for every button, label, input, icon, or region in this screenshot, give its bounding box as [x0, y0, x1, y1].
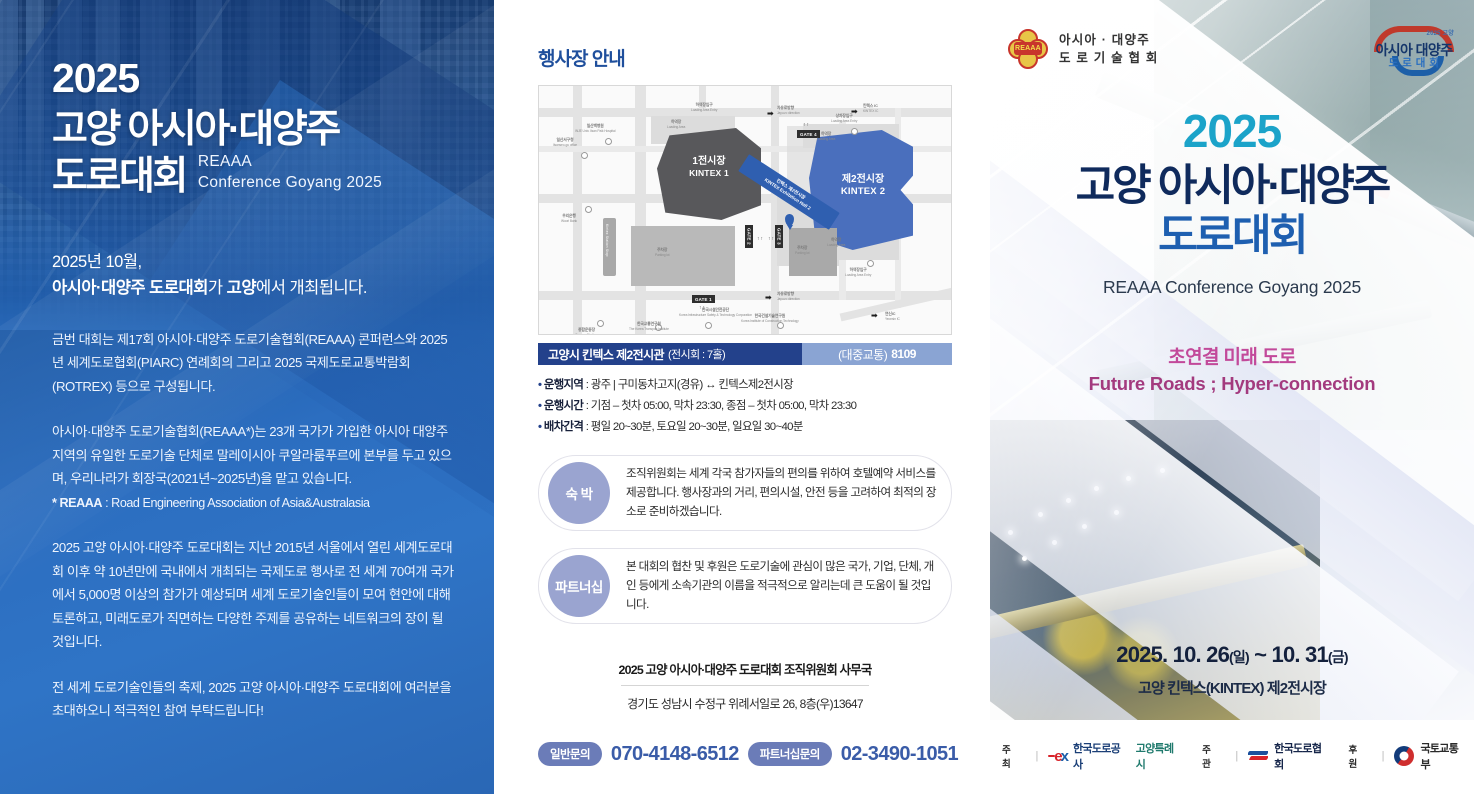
transport-bus-label: (대중교통) [838, 346, 887, 363]
map-gate4-arrows: ↑↑ [803, 122, 810, 128]
map-direction-2: 킨텍스 IC KINTEX IC [863, 104, 878, 113]
left-content: 2025 고양 아시아·대양주 도로대회 REAAA Conference Go… [0, 0, 494, 723]
transport-detail-value: 평일 20~30분, 토요일 20~30분, 일요일 30~40분 [591, 421, 803, 433]
contact-row: 일반문의 070-4148-6512 파트너십문의 02-3490-1051 [538, 742, 952, 766]
map-poi-9-en: Parking lot [655, 253, 669, 257]
map-poi-2-en: Woori Bank [561, 219, 577, 223]
left-paragraph-4: 전 세계 도로기술인들의 축제, 2025 고양 아시아·대양주 도로대회에 여… [52, 676, 454, 723]
map-poi-0: 일산백병원 INJE Univ. Ilsan Paik Hospital [575, 124, 615, 133]
map-poi-8-en: Loading Area Entry [845, 273, 871, 277]
cover-date-sep: ~ [1249, 642, 1272, 667]
map-poi-5: 상차장입구 Loading Area Entry [831, 114, 857, 123]
transport-venue-hall: (전시회 : 7홀) [668, 346, 725, 362]
partnership-text: 본 대회의 협찬 및 후원은 도로기술에 관심이 많은 국가, 기업, 단체, … [626, 558, 937, 614]
road-association-icon [1248, 750, 1268, 762]
reaaa-mark-text: REAAA [1014, 42, 1042, 55]
emblem-line2: 도 로 대 회 [1368, 55, 1460, 70]
transport-detail-value: 기점 – 첫차 05:00, 막차 23:30, 종점 – 첫차 05:00, … [591, 400, 857, 412]
partnership-badge: 파트너십 [548, 555, 610, 617]
map-direction-arrow-4: ➡ [871, 312, 878, 320]
map-poi-5-en: Loading Area Entry [831, 119, 857, 123]
sponsor-supporter-label: 후 원 [1349, 742, 1372, 770]
transport-detail-item: 배차간격 : 평일 20~30분, 토요일 20~30분, 일요일 30~40분 [538, 417, 952, 438]
map-poi-6-en: Loading Area [817, 137, 835, 141]
transport-detail-key: 운행지역 [544, 379, 583, 391]
venue-map[interactable]: Kintex Station Stop 1전시장 KINTEX 1 제2전시장 … [538, 85, 952, 335]
map-direction-2-en: KINTEX IC [863, 109, 878, 113]
reaaa-logo-line2: 도 로 기 술 협 회 [1059, 49, 1159, 67]
cover-date-start-dow: (일) [1229, 649, 1249, 665]
cover-venue: 고양 킨텍스(KINTEX) 제2전시장 [990, 677, 1474, 698]
map-poi-10: 주차장 Parking lot [795, 246, 809, 255]
reaaa-flower-icon: REAAA [1008, 29, 1048, 69]
map-direction-arrow-3: ➡ [765, 294, 772, 302]
map-poi-2: 우리은행 Woori Bank [561, 214, 577, 223]
left-lead-highlight-a: 아시아·대양주 도로대회 [52, 279, 208, 297]
map-direction-3: 자유로방향 Jayu-ro direction [777, 292, 800, 301]
transport-detail-key: 배차간격 [544, 421, 583, 433]
map-poi-4: 하역장 Loading Area [667, 120, 685, 129]
venue-heading: 행사장 안내 [538, 44, 964, 71]
left-title-en-line1: REAAA [198, 152, 382, 173]
map-label-hall2-ko: 제2전시장 [811, 174, 915, 186]
map-poi-14-en: Goyang Stadium [575, 333, 598, 335]
sponsor-organizer-label: 주 관 [1202, 742, 1225, 770]
reaaa-association-logo: REAAA 아시아 · 대양주 도 로 기 술 협 회 [1008, 29, 1159, 69]
map-poi-4-en: Loading Area [667, 125, 685, 129]
cover-slogan-ko: 초연결 미래 도로 [990, 342, 1474, 369]
accommodation-badge: 숙 박 [548, 462, 610, 524]
map-gate-3: GATE 3 [775, 225, 783, 248]
map-poi-7-en: Loading Area [827, 243, 845, 247]
left-paragraph-3: 2025 고양 아시아·대양주 도로대회는 지난 2015년 서울에서 열린 세… [52, 536, 454, 654]
accommodation-text: 조직위원회는 세계 각국 참가자들의 편의를 위하여 호텔예약 서비스를 제공합… [626, 465, 937, 521]
transport-detail-value: 광주 | 구미동차고지(경유) ↔ 킨텍스제2전시장 [591, 379, 793, 391]
left-title-line2: 도로대회 [52, 155, 186, 199]
ex-highway-icon: ex [1048, 749, 1067, 764]
transport-details-list: 운행지역 : 광주 | 구미동차고지(경유) ↔ 킨텍스제2전시장 운행시간 :… [538, 375, 952, 438]
info-card-partnership: 파트너십 본 대회의 협찬 및 후원은 도로기술에 관심이 많은 국가, 기업,… [538, 548, 952, 624]
cover-hero: 2025 고양 아시아·대양주 도로대회 REAAA Conference Go… [990, 108, 1474, 395]
left-lead-line2: 아시아·대양주 도로대회가 고양에서 개최됩니다. [52, 275, 454, 302]
left-note: * REAAA : Road Engineering Association o… [52, 496, 370, 510]
left-title-row: 도로대회 REAAA Conference Goyang 2025 [52, 152, 454, 199]
sponsor-divider: | [1035, 750, 1038, 762]
sponsor-host-name-1: 한국도로공사 [1073, 740, 1124, 772]
left-note-label: * REAAA [52, 496, 102, 510]
organizer-divider [621, 685, 869, 686]
sponsor-group-supporter: 후 원 | 국토교통부 [1349, 740, 1462, 772]
info-card-accommodation: 숙 박 조직위원회는 세계 각국 참가자들의 편의를 위하여 호텔예약 서비스를… [538, 455, 952, 531]
map-poi-7: 하역장 Loading Area [827, 238, 845, 247]
left-title-english: REAAA Conference Goyang 2025 [198, 152, 382, 199]
map-poi-6: 하역장 Loading Area [817, 132, 835, 141]
reaaa-logo-text: 아시아 · 대양주 도 로 기 술 협 회 [1059, 31, 1159, 67]
right-content: REAAA 아시아 · 대양주 도 로 기 술 협 회 2025 고양 아시아 … [990, 0, 1474, 794]
map-label-hall2-en: KINTEX 2 [811, 186, 915, 197]
transport-bus-route: 8109 [891, 347, 916, 361]
sponsor-supporter-name: 국토교통부 [1420, 740, 1462, 772]
sponsor-organizer-name: 한국도로협회 [1274, 740, 1324, 772]
left-body-copy: 금번 대회는 제17회 아시아·대양주 도로기술협회(REAAA) 콘퍼런스와 … [52, 328, 454, 723]
contact-partnership-chip: 파트너십문의 [748, 742, 832, 766]
map-poi-13: 한국건설기술연구원 Korea Institute of Constructio… [741, 314, 799, 323]
cover-date-start: 2025. 10. 26 [1116, 642, 1229, 667]
left-lead-highlight-b: 고양 [227, 279, 256, 297]
map-poi-14: 종합운동장 Goyang Stadium [575, 328, 598, 335]
map-gate-2: GATE 2 [745, 225, 753, 248]
map-poi-3: 하역장입구 Loading Area Entry [691, 103, 717, 112]
transport-venue-name: 고양시 킨텍스 제2전시관 [548, 346, 664, 363]
map-poi-1-en: Ilsanseo-gu office [553, 143, 577, 147]
map-direction-4: 연신IC Yeonsin IC [885, 312, 900, 321]
map-gate2-arrows: ↑↑ [757, 236, 764, 242]
left-title-line1: 고양 아시아·대양주 [52, 108, 454, 152]
panel-middle-venue: 행사장 안내 [510, 0, 990, 794]
map-direction-3-en: Jayu-ro direction [777, 297, 800, 301]
map-parking-west [631, 226, 735, 286]
map-label-hall2: 제2전시장 KINTEX 2 [811, 174, 915, 197]
left-paragraph-1: 금번 대회는 제17회 아시아·대양주 도로기술협회(REAAA) 콘퍼런스와 … [52, 328, 454, 399]
left-lead-conn: 가 [208, 279, 227, 297]
cover-title-line2: 도로대회 [990, 213, 1474, 259]
map-poi-dot [597, 320, 604, 327]
map-direction-4-en: Yeonsin IC [885, 317, 900, 321]
left-lead: 2025년 10월, 아시아·대양주 도로대회가 고양에서 개최됩니다. [52, 249, 454, 302]
map-poi-9: 주차장 Parking lot [655, 248, 669, 257]
organizer-block: 2025 고양 아시아·대양주 도로대회 조직위원회 사무국 경기도 성남시 수… [538, 660, 952, 712]
left-title-en-line2: Conference Goyang 2025 [198, 173, 382, 194]
brochure-trifold: 2025 고양 아시아·대양주 도로대회 REAAA Conference Go… [0, 0, 1474, 794]
cover-date-end-dow: (금) [1328, 649, 1348, 665]
map-gate3-arrows: ↑↑ [768, 236, 775, 242]
transport-detail-key: 운행시간 [544, 400, 583, 412]
map-poi-3-en: Loading Area Entry [691, 108, 717, 112]
map-poi-dot [777, 322, 784, 329]
map-poi-13-en: Korea Institute of Construction Technolo… [741, 319, 799, 323]
sponsor-host-label: 주 최 [1002, 742, 1025, 770]
sponsor-divider: | [1382, 750, 1385, 762]
reaaa-logo-line1: 아시아 · 대양주 [1059, 31, 1159, 49]
panel-gutter-left [494, 0, 510, 794]
left-note-text: : Road Engineering Association of Asia&A… [102, 496, 370, 510]
cover-year: 2025 [990, 108, 1474, 154]
cover-date-end: 10. 31 [1272, 642, 1328, 667]
map-direction-1-en: Jayu-ro direction [777, 111, 800, 115]
left-lead-line1: 2025년 10월, [52, 249, 454, 276]
cover-date-block: 2025. 10. 26(일) ~ 10. 31(금) 고양 킨텍스(KINTE… [990, 642, 1474, 698]
transport-venue-label: 고양시 킨텍스 제2전시관 (전시회 : 7홀) [538, 343, 802, 365]
panel-right-cover: REAAA 아시아 · 대양주 도 로 기 술 협 회 2025 고양 아시아 … [990, 0, 1474, 794]
map-subway-label: Kintex Station Stop [605, 224, 609, 257]
sponsor-divider: | [1235, 750, 1238, 762]
organizer-address: 경기도 성남시 수정구 위례서일로 26, 8층(우)13647 [538, 695, 952, 712]
left-paragraph-2-text: 아시아·대양주 도로기술협회(REAAA*)는 23개 국가가 가입한 아시아 … [52, 424, 452, 486]
cover-slogan-en: Future Roads ; Hyper-connection [990, 373, 1474, 395]
left-paragraph-2: 아시아·대양주 도로기술협회(REAAA*)는 23개 국가가 가입한 아시아 … [52, 420, 454, 514]
map-poi-dot [867, 260, 874, 267]
map-poi-12-en: The Korea Transport Institute [629, 327, 669, 331]
map-poi-10-en: Parking lot [795, 251, 809, 255]
emblem-year-text: 2025 고양 [1427, 28, 1454, 37]
transport-bus-number: (대중교통) 8109 [802, 343, 952, 365]
contact-partnership-number[interactable]: 02-3490-1051 [841, 743, 958, 766]
map-poi-dot [605, 138, 612, 145]
event-emblem-logo: 2025 고양 아시아 대양주 도 로 대 회 [1368, 20, 1460, 78]
transport-detail-item: 운행시간 : 기점 – 첫차 05:00, 막차 23:30, 종점 – 첫차 … [538, 396, 952, 417]
public-transport-bar: 고양시 킨텍스 제2전시관 (전시회 : 7홀) (대중교통) 8109 [538, 343, 952, 365]
map-direction-arrow-1: ➡ [767, 110, 774, 118]
contact-general-chip: 일반문의 [538, 742, 602, 766]
map-poi-dot [585, 206, 592, 213]
map-poi-1: 일산서구청 Ilsanseo-gu office [553, 138, 577, 147]
sponsor-group-host: 주 최 | ex 한국도로공사 고양특례시 [1002, 740, 1178, 772]
cover-title-line1: 고양 아시아·대양주 [990, 163, 1474, 209]
sponsor-host-name-2: 고양특례시 [1136, 740, 1178, 772]
organizer-name: 2025 고양 아시아·대양주 도로대회 조직위원회 사무국 [619, 660, 872, 685]
map-gate-1: GATE 1 [692, 295, 715, 303]
map-poi-dot [581, 152, 588, 159]
panel-left-intro: 2025 고양 아시아·대양주 도로대회 REAAA Conference Go… [0, 0, 494, 794]
cover-date: 2025. 10. 26(일) ~ 10. 31(금) [990, 642, 1474, 668]
korea-government-taegeuk-icon [1394, 746, 1414, 766]
map-direction-1: 자유로방향 Jayu-ro direction [777, 106, 800, 115]
cover-subtitle-en: REAAA Conference Goyang 2025 [990, 277, 1474, 298]
left-year: 2025 [52, 58, 454, 99]
transport-detail-item: 운행지역 : 광주 | 구미동차고지(경유) ↔ 킨텍스제2전시장 [538, 375, 952, 396]
map-poi-0-en: INJE Univ. Ilsan Paik Hospital [575, 129, 615, 133]
map-poi-8: 하역장입구 Loading Area Entry [845, 268, 871, 277]
map-poi-dot [851, 128, 858, 135]
sponsor-group-organizer: 주 관 | 한국도로협회 [1202, 740, 1324, 772]
contact-general-number[interactable]: 070-4148-6512 [611, 743, 739, 766]
left-lead-tail: 에서 개최됩니다. [256, 279, 367, 297]
sponsor-row: 주 최 | ex 한국도로공사 고양특례시 주 관 | 한국도로협회 후 원 | [990, 740, 1474, 772]
right-logo-row: REAAA 아시아 · 대양주 도 로 기 술 협 회 2025 고양 아시아 … [990, 18, 1474, 80]
map-poi-dot [705, 322, 712, 329]
map-poi-12: 한국교통연구원 The Korea Transport Institute [629, 322, 669, 331]
